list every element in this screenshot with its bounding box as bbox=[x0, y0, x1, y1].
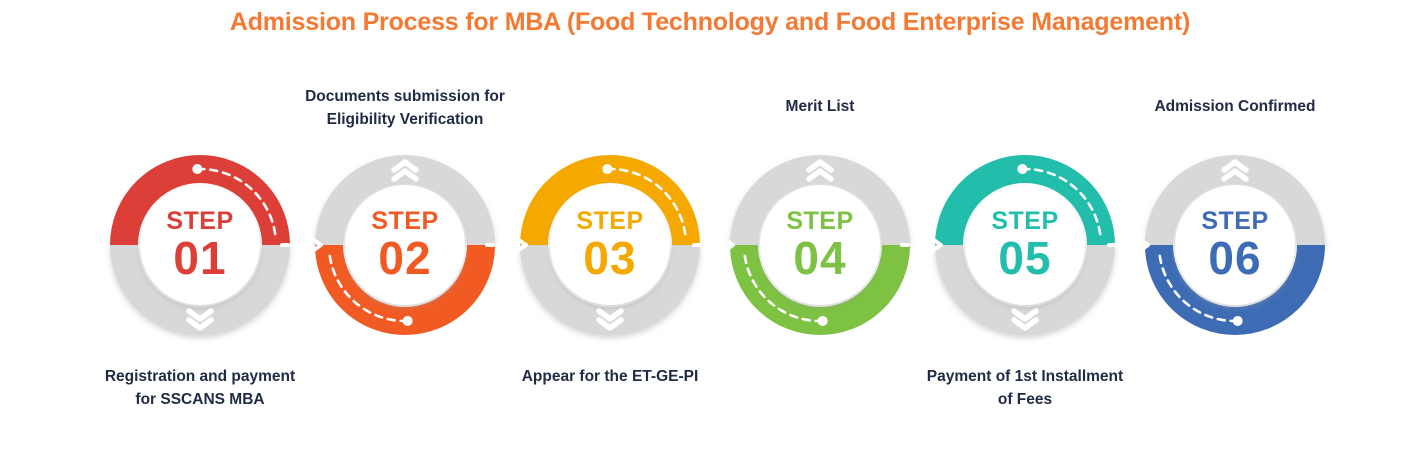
step-caption-line-2: Eligibility Verification bbox=[255, 109, 555, 132]
step-caption-04: Merit List bbox=[670, 96, 970, 119]
step-inner-disc bbox=[140, 185, 260, 305]
step-progress-dot-marker bbox=[192, 164, 202, 174]
step-inner-disc bbox=[1175, 185, 1295, 305]
step-caption-05: Payment of 1st Installmentof Fees bbox=[875, 366, 1175, 412]
step-node-02[interactable]: STEP02 bbox=[310, 150, 500, 340]
step-caption-line-2: of Fees bbox=[875, 389, 1175, 412]
step-inner-disc bbox=[550, 185, 670, 305]
step-node-06[interactable]: STEP06 bbox=[1140, 150, 1330, 340]
step-progress-dot-marker bbox=[602, 164, 612, 174]
step-caption-line-1: Merit List bbox=[670, 96, 970, 119]
dashed-arrow-right-icon bbox=[280, 236, 326, 254]
step-caption-line-1: Registration and payment bbox=[50, 366, 350, 389]
step-node-04[interactable]: STEP04 bbox=[725, 150, 915, 340]
step-inner-disc bbox=[760, 185, 880, 305]
step-caption-06: Admission Confirmed bbox=[1085, 96, 1385, 119]
step-node-01[interactable]: STEP01 bbox=[105, 150, 295, 340]
dashed-arrow-right-icon bbox=[692, 236, 738, 254]
step-caption-line-1: Documents submission for bbox=[255, 86, 555, 109]
step-caption-line-1: Appear for the ET-GE-PI bbox=[460, 366, 760, 389]
dashed-arrow-right-icon bbox=[485, 236, 531, 254]
step-progress-dot-marker bbox=[818, 316, 828, 326]
dashed-arrow-right-icon bbox=[900, 236, 946, 254]
step-inner-disc bbox=[965, 185, 1085, 305]
step-progress-dot-marker bbox=[1233, 316, 1243, 326]
step-caption-03: Appear for the ET-GE-PI bbox=[460, 366, 760, 389]
step-inner-disc bbox=[345, 185, 465, 305]
step-caption-line-2: for SSCANS MBA bbox=[50, 389, 350, 412]
dashed-arrow-right-icon bbox=[1107, 236, 1153, 254]
step-progress-dot-marker bbox=[403, 316, 413, 326]
step-caption-line-1: Payment of 1st Installment bbox=[875, 366, 1175, 389]
process-flow-diagram: STEP01Registration and paymentfor SSCANS… bbox=[0, 0, 1420, 450]
step-node-05[interactable]: STEP05 bbox=[930, 150, 1120, 340]
step-caption-line-1: Admission Confirmed bbox=[1085, 96, 1385, 119]
step-caption-02: Documents submission forEligibility Veri… bbox=[255, 86, 555, 132]
step-node-03[interactable]: STEP03 bbox=[515, 150, 705, 340]
step-caption-01: Registration and paymentfor SSCANS MBA bbox=[50, 366, 350, 412]
step-progress-dot-marker bbox=[1017, 164, 1027, 174]
